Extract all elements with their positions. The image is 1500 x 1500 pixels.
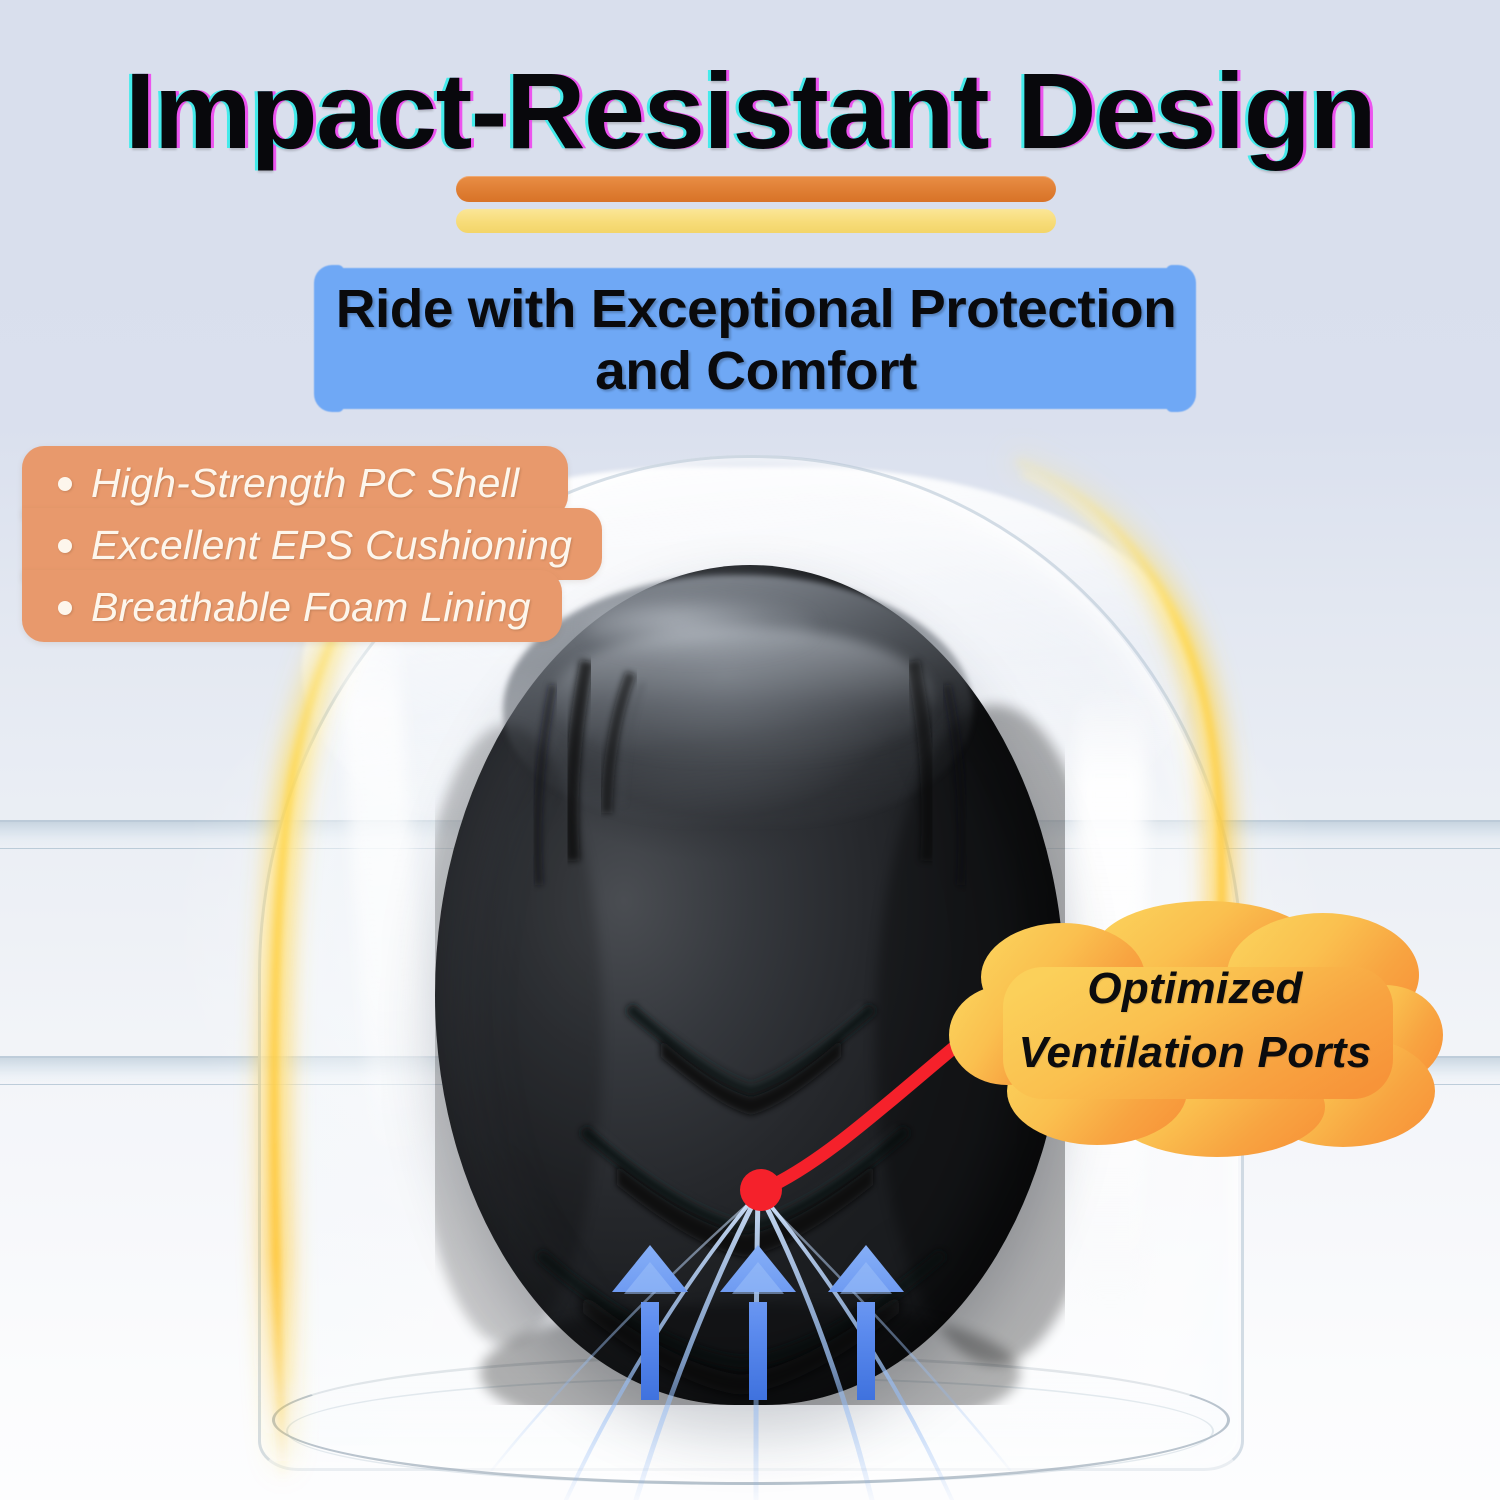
callout-line-1: Optimized xyxy=(989,957,1401,1021)
callout-line-2: Ventilation Ports xyxy=(989,1021,1401,1085)
helmet-chevron-vent-1 xyxy=(633,1005,869,1115)
page-subtitle: Ride with Exceptional Protection and Com… xyxy=(321,278,1190,402)
subtitle-line-2: and Comfort xyxy=(321,340,1190,402)
helmet-left-shadow xyxy=(435,725,603,1345)
bullet-dot-icon xyxy=(58,539,72,553)
glass-dome-base-ellipse xyxy=(272,1355,1230,1485)
ventilation-callout: Optimized Ventilation Ports xyxy=(945,895,1445,1157)
airflow-arrow-center xyxy=(720,1245,796,1400)
page-title: Impact-Resistant Design xyxy=(0,48,1500,173)
shelf-band xyxy=(0,820,1500,849)
feature-label: Breathable Foam Lining xyxy=(91,584,531,631)
callout-text: Optimized Ventilation Ports xyxy=(989,957,1401,1085)
helmet-chevron-vent-2 xyxy=(587,1127,903,1257)
helmet-top-vent-groove xyxy=(607,673,643,813)
subtitle-line-1: Ride with Exceptional Protection xyxy=(321,278,1190,340)
feature-label: Excellent EPS Cushioning xyxy=(91,522,572,569)
helmet-specular-highlight xyxy=(585,599,815,657)
helmet-side-vent-slits xyxy=(538,661,963,885)
airflow-arrows xyxy=(612,1245,904,1400)
glass-highlight-left xyxy=(335,604,434,1167)
bullet-dot-icon xyxy=(58,601,72,615)
list-item: High-Strength PC Shell xyxy=(58,460,519,507)
helmet-bottom-shadow xyxy=(480,1303,1020,1405)
infographic-canvas: Impact-Resistant Design Ride with Except… xyxy=(0,0,1500,1500)
glass-dome-base-ellipse-inner xyxy=(286,1377,1214,1485)
bullet-dot-icon xyxy=(58,477,72,491)
connector-anchor-dot xyxy=(740,1169,782,1211)
airflow-streamlines xyxy=(492,1196,1010,1500)
helmet-chevron-vent-3 xyxy=(543,1257,939,1395)
list-item: Excellent EPS Cushioning xyxy=(58,522,572,569)
title-underline-yellow xyxy=(456,209,1056,233)
list-item: Breathable Foam Lining xyxy=(58,584,531,631)
airflow-arrow-left xyxy=(612,1245,688,1400)
airflow-arrow-right xyxy=(828,1245,904,1400)
title-underline-orange xyxy=(456,176,1056,202)
feature-list: High-Strength PC Shell Excellent EPS Cus… xyxy=(22,446,602,642)
helmet-gloss-edge xyxy=(553,627,933,767)
feature-label: High-Strength PC Shell xyxy=(91,460,519,507)
airflow-arrow-inner-highlights xyxy=(624,1262,892,1294)
